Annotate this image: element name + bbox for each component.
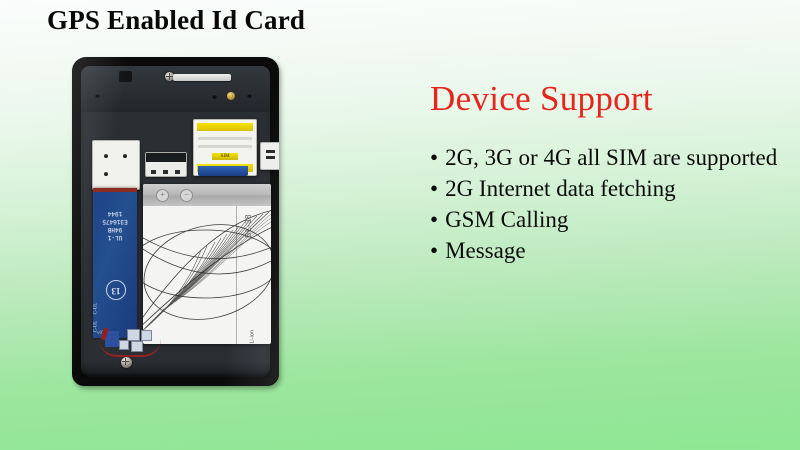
list-item-label: 2G, 3G or 4G all SIM are supported bbox=[445, 145, 777, 170]
pcb-top-trim bbox=[93, 188, 137, 192]
speaker-slot bbox=[173, 74, 231, 81]
list-item: •2G Internet data fetching bbox=[430, 173, 780, 204]
slide-canvas: GPS Enabled Id Card SIM bbox=[0, 0, 800, 450]
cover-notch-icon bbox=[119, 71, 132, 82]
mount-hole-icon bbox=[212, 94, 217, 99]
bullet-dot-icon: • bbox=[430, 176, 438, 201]
pcb-print-line-4: UL-1 bbox=[93, 234, 137, 241]
pcb-side-label-1: C-UL bbox=[93, 303, 98, 315]
mount-hole-icon bbox=[95, 93, 100, 98]
sim-rail bbox=[198, 145, 252, 148]
sim-contact-bar bbox=[197, 123, 253, 131]
sim-slot-lid bbox=[146, 153, 186, 162]
photo-bottom-shadow bbox=[81, 361, 270, 377]
list-item: •2G, 3G or 4G all SIM are supported bbox=[430, 142, 780, 173]
antenna-contact-pad bbox=[92, 140, 140, 190]
list-item-label: 2G Internet data fetching bbox=[445, 176, 676, 201]
list-item-label: GSM Calling bbox=[445, 207, 568, 232]
circuit-chip bbox=[119, 340, 129, 350]
bullet-dot-icon: • bbox=[430, 238, 438, 263]
pcb-print-line-1: 1944 bbox=[93, 210, 137, 217]
phone-back-cavity: SIM 1944 bbox=[81, 66, 270, 377]
sim-pin bbox=[163, 170, 168, 174]
bullet-dot-icon: • bbox=[430, 145, 438, 170]
list-item: •Message bbox=[430, 235, 780, 266]
sim-rail bbox=[198, 137, 252, 140]
battery-minus-icon: − bbox=[180, 189, 193, 202]
pcb-print-line-3: 94HB bbox=[93, 226, 137, 233]
pcb-badge: 13 bbox=[106, 280, 126, 300]
circuit-chip bbox=[141, 330, 152, 341]
battery-model-code: BL-38 bbox=[244, 214, 253, 238]
phone-teardown-photo: SIM 1944 bbox=[72, 57, 279, 386]
battery-spec-text: BL-38BT 3.8V, 2000mAh Li-ion bbox=[249, 330, 255, 344]
circuit-chip bbox=[131, 341, 143, 352]
list-item: •GSM Calling bbox=[430, 204, 780, 235]
battery-plus-icon: + bbox=[156, 189, 169, 202]
pcb-strip: 1944 E316475 94HB UL-1 13 C-UL C-UL v074 bbox=[93, 188, 137, 338]
page-title: GPS Enabled Id Card bbox=[47, 5, 305, 35]
bottom-circuitry bbox=[97, 327, 173, 357]
sd-card-slot bbox=[260, 142, 279, 170]
sim-pin bbox=[175, 170, 180, 174]
pad-hole-icon bbox=[104, 172, 108, 176]
battery-brand-logo: TECNO BL-38BT 3.8V, 2000mAh Li-ion bbox=[230, 330, 255, 344]
sim-chip-label: SIM bbox=[212, 153, 238, 160]
battery-divider-line bbox=[236, 206, 237, 344]
content-column: Device Support •2G, 3G or 4G all SIM are… bbox=[430, 78, 780, 266]
mount-hole-icon bbox=[247, 93, 252, 98]
sd-pin bbox=[266, 156, 275, 159]
pcb-print-line-2: E316475 bbox=[93, 218, 137, 225]
pad-hole-icon bbox=[104, 154, 108, 158]
bullet-dot-icon: • bbox=[430, 207, 438, 232]
gold-contact-icon bbox=[227, 92, 235, 100]
battery-pack: + − bbox=[143, 184, 271, 344]
sim-slot-secondary bbox=[145, 152, 187, 177]
phone-top-bezel bbox=[81, 66, 270, 112]
pad-hole-icon bbox=[123, 154, 127, 158]
sim-pin bbox=[151, 170, 156, 174]
sim-slot-base bbox=[198, 166, 248, 176]
sd-pin bbox=[266, 150, 275, 153]
bullet-list: •2G, 3G or 4G all SIM are supported •2G … bbox=[430, 142, 780, 266]
list-item-label: Message bbox=[445, 238, 525, 263]
section-heading: Device Support bbox=[430, 78, 780, 120]
